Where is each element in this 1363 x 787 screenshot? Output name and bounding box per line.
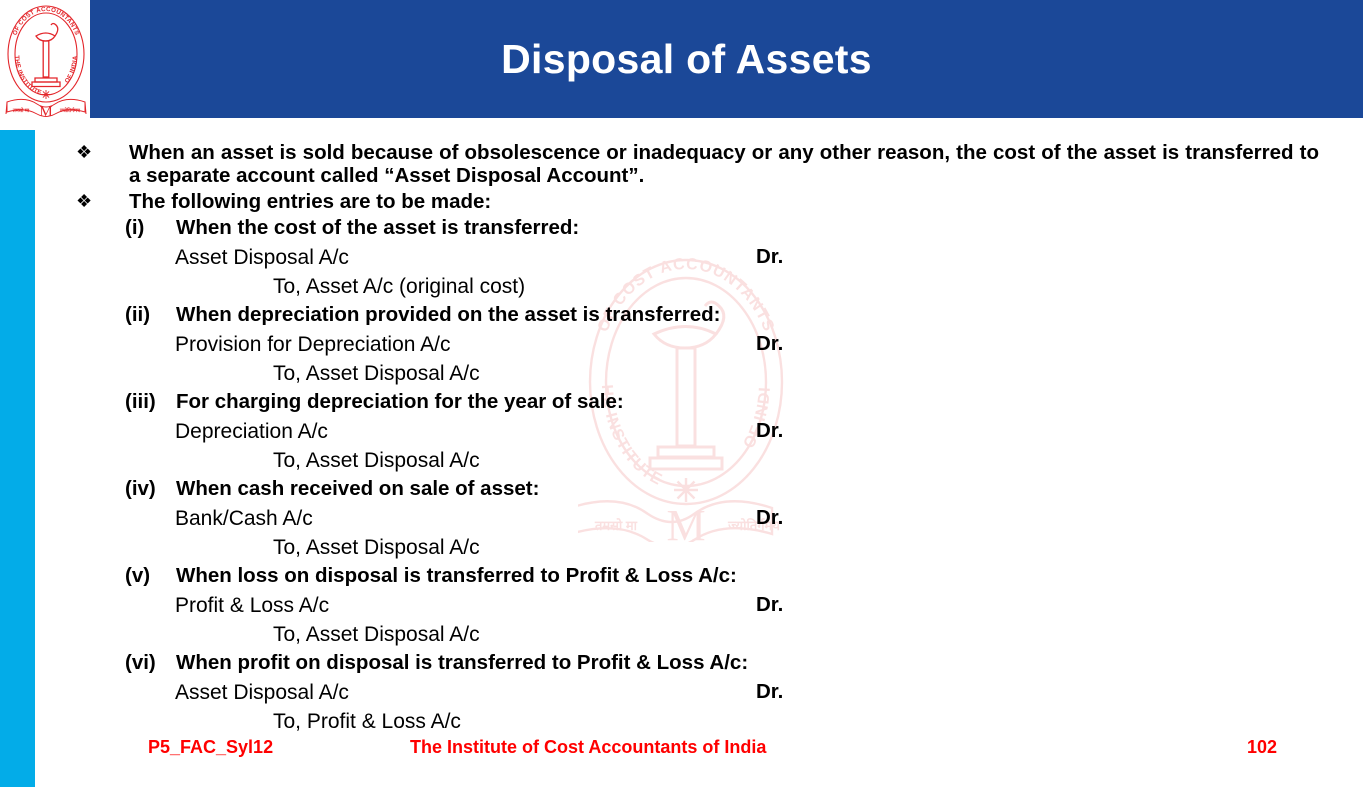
debit-marker: Dr. <box>756 247 783 268</box>
entry-heading: When cash received on sale of asset: <box>176 479 539 500</box>
debit-marker: Dr. <box>756 508 783 529</box>
journal-entry-credit-row: To, Profit & Loss A/c <box>0 711 1363 740</box>
credit-account: To, Asset A/c (original cost) <box>273 276 525 297</box>
bullet-diamond-icon: ❖ <box>76 192 92 210</box>
debit-marker: Dr. <box>756 421 783 442</box>
entry-number: (ii) <box>125 305 150 326</box>
debit-account: Provision for Depreciation A/c <box>175 334 450 355</box>
journal-entry-debit-row: Depreciation A/c Dr. <box>0 421 1363 450</box>
journal-entry-credit-row: To, Asset Disposal A/c <box>0 624 1363 653</box>
title-banner: Disposal of Assets <box>90 0 1363 118</box>
journal-entry-credit-row: To, Asset Disposal A/c <box>0 450 1363 479</box>
journal-entry: (iii) For charging depreciation for the … <box>0 392 1363 421</box>
entry-heading: When the cost of the asset is transferre… <box>176 218 579 239</box>
footer-page-number: 102 <box>1247 738 1277 756</box>
bullet-diamond-icon: ❖ <box>76 143 92 161</box>
svg-text:तमसो मा: तमसो मा <box>12 107 30 114</box>
journal-entry-credit-row: To, Asset Disposal A/c <box>0 537 1363 566</box>
entry-number: (v) <box>125 566 150 587</box>
bullet-paragraph-2: The following entries are to be made: <box>129 190 1319 213</box>
bullet-paragraph-1: When an asset is sold because of obsoles… <box>129 141 1319 187</box>
svg-text:ज्योतिर्गमय: ज्योतिर्गमय <box>59 107 81 114</box>
slide-body: ❖ When an asset is sold because of obsol… <box>0 118 1363 787</box>
journal-entry: (i) When the cost of the asset is transf… <box>0 218 1363 247</box>
debit-account: Bank/Cash A/c <box>175 508 313 529</box>
credit-account: To, Asset Disposal A/c <box>273 624 480 645</box>
slide-canvas: OF COST ACCOUNTANTS THE INSTITUTE OF IND… <box>0 0 1363 787</box>
entry-heading: When loss on disposal is transferred to … <box>176 566 737 587</box>
journal-entry: (ii) When depreciation provided on the a… <box>0 305 1363 334</box>
footer-course-code: P5_FAC_Syl12 <box>148 738 273 756</box>
page-title: Disposal of Assets <box>501 39 872 80</box>
debit-marker: Dr. <box>756 682 783 703</box>
entry-number: (i) <box>125 218 144 239</box>
credit-account: To, Asset Disposal A/c <box>273 537 480 558</box>
institute-logo: OF COST ACCOUNTANTS THE INSTITUTE OF IND… <box>4 2 88 122</box>
journal-entry: (v) When loss on disposal is transferred… <box>0 566 1363 595</box>
journal-entry-credit-row: To, Asset A/c (original cost) <box>0 276 1363 305</box>
debit-marker: Dr. <box>756 595 783 616</box>
credit-account: To, Profit & Loss A/c <box>273 711 461 732</box>
credit-account: To, Asset Disposal A/c <box>273 363 480 384</box>
journal-entry-debit-row: Bank/Cash A/c Dr. <box>0 508 1363 537</box>
journal-entry-debit-row: Asset Disposal A/c Dr. <box>0 247 1363 276</box>
journal-entry-debit-row: Profit & Loss A/c Dr. <box>0 595 1363 624</box>
debit-account: Depreciation A/c <box>175 421 328 442</box>
entry-heading: When profit on disposal is transferred t… <box>176 653 748 674</box>
entry-heading: When depreciation provided on the asset … <box>176 305 721 326</box>
entry-number: (iv) <box>125 479 156 500</box>
debit-account: Profit & Loss A/c <box>175 595 329 616</box>
journal-entry-debit-row: Asset Disposal A/c Dr. <box>0 682 1363 711</box>
footer-organisation: The Institute of Cost Accountants of Ind… <box>410 738 766 756</box>
credit-account: To, Asset Disposal A/c <box>273 450 480 471</box>
svg-text:OF COST ACCOUNTANTS: OF COST ACCOUNTANTS <box>12 6 81 36</box>
entry-number: (vi) <box>125 653 156 674</box>
debit-account: Asset Disposal A/c <box>175 247 349 268</box>
slide-footer: P5_FAC_Syl12 The Institute of Cost Accou… <box>0 738 1363 772</box>
journal-entry: (vi) When profit on disposal is transfer… <box>0 653 1363 682</box>
journal-entry: (iv) When cash received on sale of asset… <box>0 479 1363 508</box>
journal-entry-debit-row: Provision for Depreciation A/c Dr. <box>0 334 1363 363</box>
entry-heading: For charging depreciation for the year o… <box>176 392 624 413</box>
debit-marker: Dr. <box>756 334 783 355</box>
journal-entry-credit-row: To, Asset Disposal A/c <box>0 363 1363 392</box>
entry-number: (iii) <box>125 392 156 413</box>
debit-account: Asset Disposal A/c <box>175 682 349 703</box>
